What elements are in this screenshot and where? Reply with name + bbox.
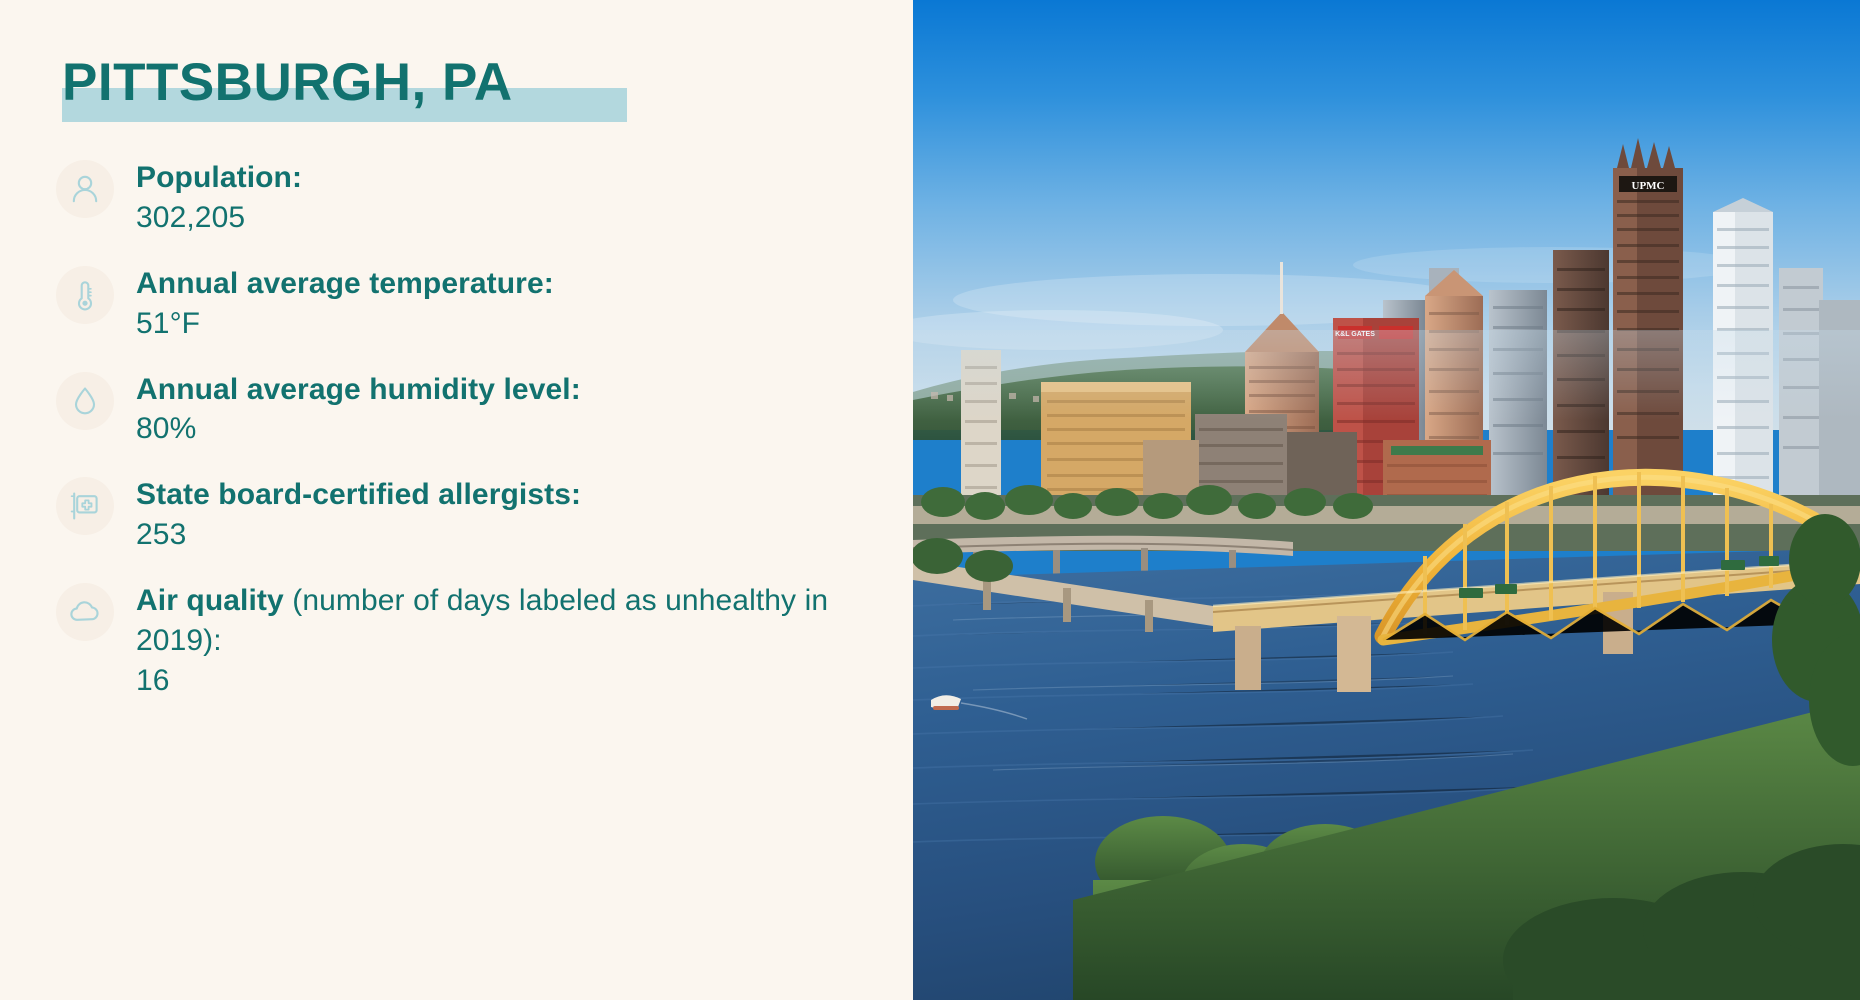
stat-body: Population: 302,205 [136,158,896,238]
city-photo: UPMC [913,0,1860,1000]
stat-value-air-quality: 16 [136,661,896,701]
stat-item-population: Population: 302,205 [56,158,896,238]
person-icon [56,160,114,218]
stat-label-population: Population: [136,158,896,198]
stat-body: Annual average humidity level: 80% [136,370,896,450]
stat-value-population: 302,205 [136,198,896,238]
stat-item-humidity: Annual average humidity level: 80% [56,370,896,450]
stat-label-allergists: State board-certified allergists: [136,475,896,515]
upmc-label: UPMC [1632,180,1665,192]
water-droplet-icon [56,372,114,430]
stat-value-temperature: 51°F [136,304,896,344]
stat-item-air-quality: Air quality (number of days labeled as u… [56,581,896,701]
page-title-wrap: PITTSBURGH, PA [62,44,513,122]
stat-value-allergists: 253 [136,515,896,555]
stat-body: State board-certified allergists: 253 [136,475,896,555]
page-title: PITTSBURGH, PA [62,44,513,122]
stat-body: Air quality (number of days labeled as u… [136,581,896,701]
city-photo-illustration: UPMC [913,0,1860,1000]
stat-label-temperature: Annual average temperature: [136,264,896,304]
stat-value-humidity: 80% [136,409,896,449]
stat-item-allergists: State board-certified allergists: 253 [56,475,896,555]
stat-label-humidity: Annual average humidity level: [136,370,896,410]
stat-label-air-quality-bold: Air quality [136,584,284,617]
stats-list: Population: 302,205 Annual average tempe… [56,158,896,701]
hospital-sign-icon [56,477,114,535]
stat-label-air-quality: Air quality (number of days labeled as u… [136,581,896,661]
infographic-page: PITTSBURGH, PA Population: 302,205 [0,0,1860,1000]
cloud-icon [56,583,114,641]
thermometer-icon [56,266,114,324]
info-panel: PITTSBURGH, PA Population: 302,205 [0,0,913,1000]
upmc-tower: UPMC [1613,138,1683,498]
stat-body: Annual average temperature: 51°F [136,264,896,344]
stat-item-temperature: Annual average temperature: 51°F [56,264,896,344]
